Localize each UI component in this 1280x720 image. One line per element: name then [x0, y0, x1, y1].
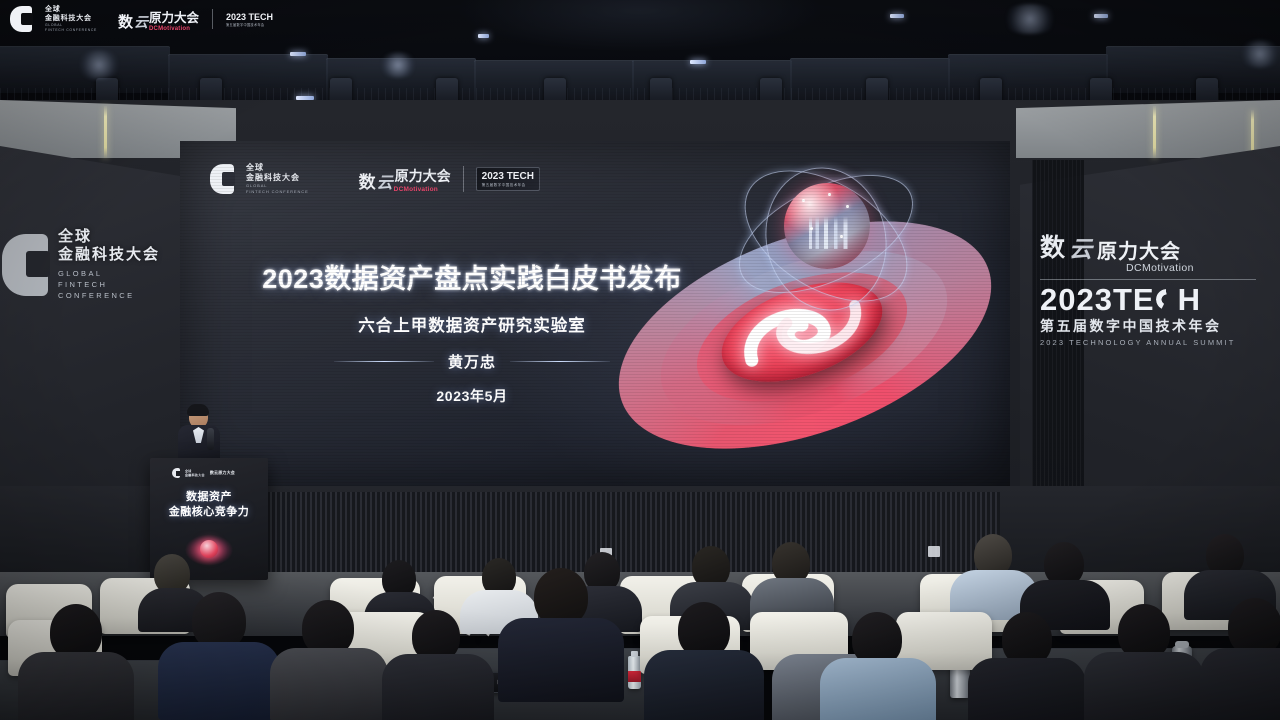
screen-logo-cn2: 金融科技大会	[246, 173, 309, 183]
right-brand-yun: 云	[1069, 230, 1092, 264]
watermark-yuanli: 原力大会	[149, 7, 199, 26]
right-brand-yuanli: 原力大会	[1097, 235, 1181, 264]
left-brand-cn-line2: 金融科技大会	[58, 246, 176, 264]
watermark-shu: 数	[118, 11, 133, 32]
broadcast-watermark: 全球 金融科技大会 GLOBAL FINTECH CONFERENCE 数 云 …	[10, 5, 273, 34]
wall-light-strip-left	[104, 106, 107, 158]
screen-logo-cn1: 全球	[246, 163, 309, 173]
led-presentation-screen: 全球 金融科技大会 GLOBAL FINTECH CONFERENCE 数 云 …	[180, 141, 1010, 486]
screen-tech-badge: 2023 TECH 第五届数字中国技术年会	[476, 167, 540, 191]
podium-headline-line1: 数据资产	[150, 488, 268, 504]
watermark-cn-line2: 金融科技大会	[45, 14, 97, 23]
right-brand-shu: 数	[1040, 228, 1066, 264]
speaker-hair	[187, 404, 209, 416]
title-rule-right	[510, 361, 610, 363]
screen-title-block: 2023数据资产盘点实践白皮书发布 六合上甲数据资产研究实验室 黄万忠 2023…	[232, 257, 712, 406]
right-wall-brand: 数 云 原力大会 DCMotivation 2023 TE H 第五届数字中国技…	[1040, 228, 1256, 347]
wall-light-strip-right	[1153, 106, 1156, 158]
fintech-conference-mark-icon	[10, 6, 32, 32]
podium-badge: 数云原力大会	[210, 470, 235, 476]
speaker-figure	[176, 406, 222, 464]
watermark-yun: 云	[134, 12, 148, 32]
watermark-cn-line1: 全球	[45, 5, 97, 14]
right-brand-year: 2023	[1040, 284, 1113, 315]
left-wall-brand: 全球 金融科技大会 GLOBAL FINTECH CONFERENCE	[6, 228, 176, 301]
watermark-en-line2: FINTECH CONFERENCE	[45, 28, 97, 33]
orbiting-sphere-icon	[784, 183, 870, 269]
presentation-date: 2023年5月	[232, 386, 712, 406]
screen-logo-yuanli: 原力大会	[395, 166, 451, 186]
presentation-subtitle: 六合上甲数据资产研究实验室	[232, 312, 712, 336]
left-brand-cn-line1: 全球	[58, 228, 176, 246]
conference-stage-photo: 全球 金融科技大会 GLOBAL FINTECH CONFERENCE 数 云 …	[0, 0, 1280, 720]
podium-headline-line2: 金融核心竞争力	[150, 503, 268, 519]
presenter-name: 黄万忠	[448, 351, 496, 372]
title-rule-left	[334, 361, 434, 363]
screen-logo-bar: 全球 金融科技大会 GLOBAL FINTECH CONFERENCE 数 云 …	[210, 163, 540, 195]
swirl-logo-icon	[1154, 287, 1179, 312]
podium-logo-row: 全球 金融科技大会 数云原力大会	[172, 468, 235, 478]
screen-logo-shu: 数	[359, 168, 376, 193]
right-brand-tech-h: H	[1178, 284, 1201, 315]
wall-band-right	[1016, 100, 1280, 158]
left-brand-en-line1: GLOBAL	[58, 268, 176, 279]
right-brand-cn-sub: 第五届数字中国技术年会	[1040, 316, 1256, 336]
screen-logo-en2: FINTECH CONFERENCE	[246, 189, 309, 195]
podium-logo-cn2: 金融科技大会	[185, 473, 205, 477]
left-brand-en-line2: FINTECH CONFERENCE	[58, 279, 176, 302]
right-brand-dcmotivation: DCMotivation	[1126, 262, 1256, 274]
right-brand-en-sub: 2023 TECHNOLOGY ANNUAL SUMMIT	[1040, 338, 1256, 347]
watermark-dcmotivation: DCMotivation	[149, 26, 199, 32]
screen-logo-dcmotivation: DCMotivation	[394, 186, 451, 193]
watermark-badge-line2: 第五届数字中国技术年会	[226, 22, 273, 27]
screen-badge-line1: 2023 TECH	[482, 171, 534, 183]
audience-area: 中国进出口银行 中信银行 中信银行	[0, 520, 1280, 720]
handheld-microphone-icon	[207, 428, 214, 450]
presentation-title: 2023数据资产盘点实践白皮书发布	[232, 257, 712, 296]
fintech-conference-mark-icon	[210, 164, 234, 194]
screen-logo-yun: 云	[377, 169, 393, 193]
fintech-conference-mark-icon	[2, 234, 48, 296]
fintech-conference-mark-icon	[172, 468, 180, 478]
watermark-badge-line1: 2023 TECH	[226, 12, 273, 22]
screen-badge-line2: 第五届数字中国技术年会	[482, 183, 534, 187]
watermark-tech-badge: 2023 TECH 第五届数字中国技术年会	[226, 12, 273, 27]
right-brand-divider	[1040, 279, 1256, 280]
right-brand-tech-te: TE	[1113, 284, 1155, 315]
